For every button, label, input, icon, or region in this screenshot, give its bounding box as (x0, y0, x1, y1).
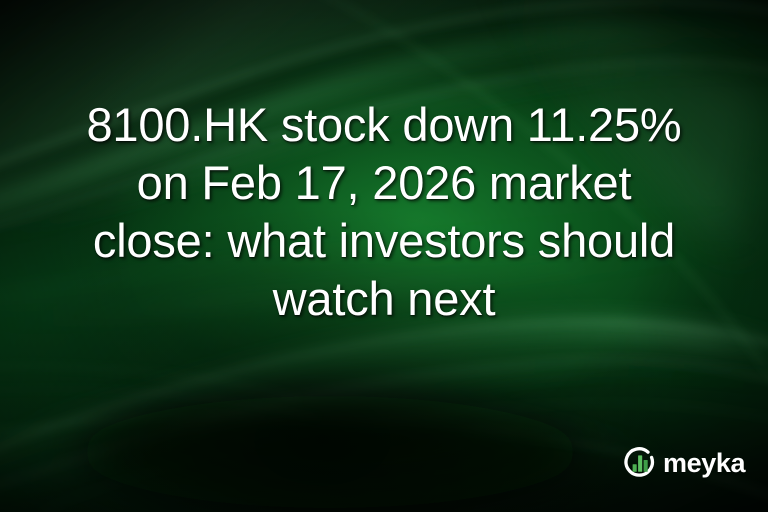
headline: 8100.HK stock down 11.25% on Feb 17, 202… (0, 96, 768, 328)
headline-line: 8100.HK stock down 11.25% (28, 96, 740, 154)
meyka-chart-ring-icon (623, 446, 657, 480)
article-share-card: 8100.HK stock down 11.25% on Feb 17, 202… (0, 0, 768, 512)
meyka-wordmark: meyka (663, 450, 745, 477)
headline-line: watch next (28, 270, 740, 328)
headline-line: close: what investors should (28, 212, 740, 270)
headline-line: on Feb 17, 2026 market (28, 154, 740, 212)
meyka-logo[interactable]: meyka (623, 446, 745, 480)
